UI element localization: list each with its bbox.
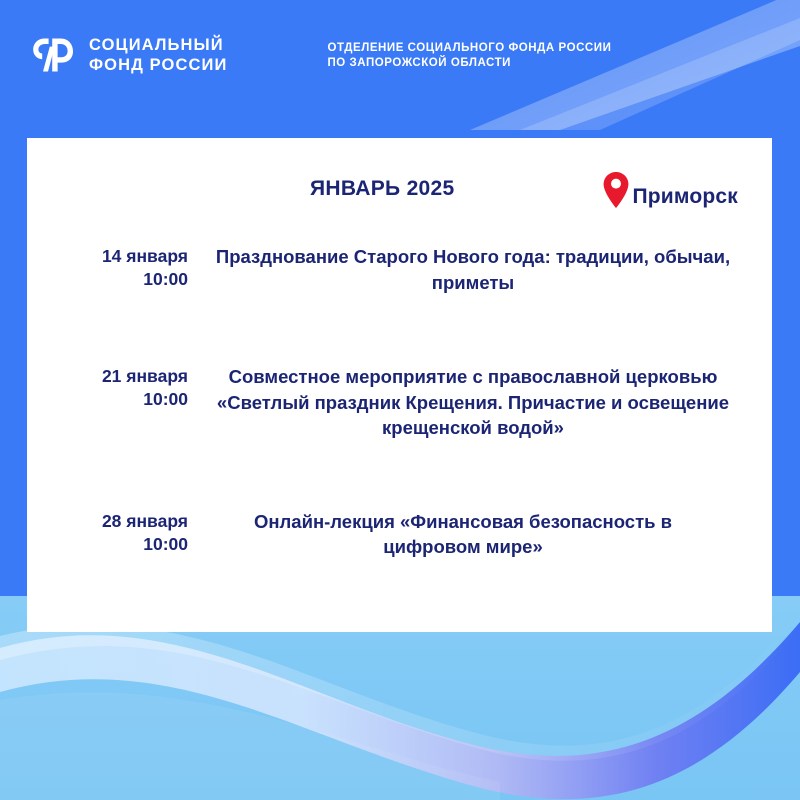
event-row: 21 января 10:00 Совместное мероприятие с…: [49, 364, 750, 441]
month-title: ЯНВАРЬ 2025: [310, 177, 455, 201]
brand-lockup: СОЦИАЛЬНЫЙ ФОНД РОССИИ: [30, 32, 227, 78]
event-datetime: 14 января 10:00: [49, 244, 206, 291]
sfr-monogram-logo-icon: [30, 32, 76, 78]
department-title: ОТДЕЛЕНИЕ СОЦИАЛЬНОГО ФОНДА РОССИИ ПО ЗА…: [327, 39, 611, 71]
card-header: ЯНВАРЬ 2025 Приморск: [49, 166, 750, 218]
event-title: Онлайн-лекция «Финансовая безопасность в…: [206, 509, 750, 560]
event-row: 28 января 10:00 Онлайн-лекция «Финансова…: [49, 509, 750, 560]
event-title: Празднование Старого Нового года: традиц…: [206, 244, 750, 295]
event-row: 14 января 10:00 Празднование Старого Нов…: [49, 244, 750, 295]
location-name: Приморск: [632, 185, 738, 209]
event-datetime: 21 января 10:00: [49, 364, 206, 411]
event-datetime: 28 января 10:00: [49, 509, 206, 556]
events-list: 14 января 10:00 Празднование Старого Нов…: [49, 244, 750, 560]
brand-name: СОЦИАЛЬНЫЙ ФОНД РОССИИ: [89, 35, 227, 75]
schedule-card: ЯНВАРЬ 2025 Приморск 14 января 10:00 Пра…: [27, 138, 772, 632]
location-badge: Приморск: [602, 171, 738, 209]
map-pin-icon: [602, 171, 630, 209]
page-header: СОЦИАЛЬНЫЙ ФОНД РОССИИ ОТДЕЛЕНИЕ СОЦИАЛЬ…: [0, 0, 800, 110]
event-title: Совместное мероприятие с православной це…: [206, 364, 750, 441]
